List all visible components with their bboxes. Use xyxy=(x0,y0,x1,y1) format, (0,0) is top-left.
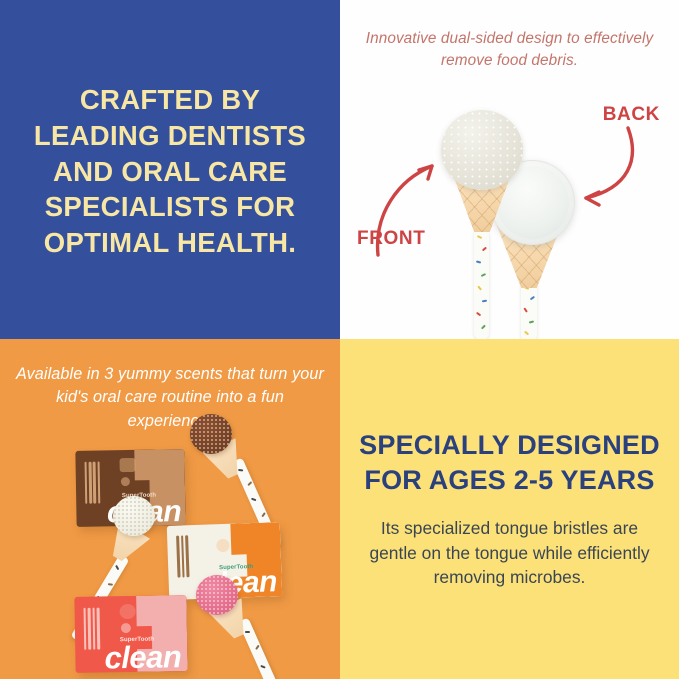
sprinkle xyxy=(261,512,266,517)
product-infographic: CRAFTED BY LEADING DENTISTS AND ORAL CAR… xyxy=(0,0,679,679)
box-stripe xyxy=(92,607,95,650)
box-stripe xyxy=(185,536,189,577)
scoop-strawberry xyxy=(196,575,238,615)
box-stripe xyxy=(89,461,92,504)
sprinkle xyxy=(477,235,483,239)
box-stripe xyxy=(176,536,180,577)
sprinkle xyxy=(260,665,265,669)
sprinkle xyxy=(477,285,482,290)
box-motif xyxy=(119,604,135,619)
panel-dual-sided-design: Innovative dual-sided design to effectiv… xyxy=(340,0,679,339)
sprinkle xyxy=(238,469,243,472)
box-product-word: clean xyxy=(104,639,181,673)
box-stripe xyxy=(88,607,91,650)
bristle-texture xyxy=(441,110,523,190)
box-stripe xyxy=(97,461,100,504)
scents-caption: Available in 3 yummy scents that turn yo… xyxy=(0,363,340,433)
sprinkle xyxy=(482,300,487,303)
box-motif xyxy=(216,539,229,552)
label-back: BACK xyxy=(603,104,660,126)
sprinkle xyxy=(251,498,256,502)
toothbrush-photo xyxy=(340,0,679,339)
box-motif xyxy=(121,623,131,633)
box-motif xyxy=(121,477,130,486)
sprinkle xyxy=(481,325,486,330)
box-stripe xyxy=(84,461,87,504)
box-stripe xyxy=(93,461,96,504)
handle-back xyxy=(521,280,537,339)
sprinkle xyxy=(529,320,534,324)
sprinkle xyxy=(481,273,487,277)
bristle-texture xyxy=(196,575,238,615)
panel-ages-2-5: SPECIALLY DESIGNED FOR AGES 2-5 YEARS It… xyxy=(340,339,679,679)
label-front: FRONT xyxy=(357,228,425,250)
ages-headline: SPECIALLY DESIGNED FOR AGES 2-5 YEARS xyxy=(340,428,679,498)
ages-body-text: Its specialized tongue bristles are gent… xyxy=(340,516,679,590)
handle-front xyxy=(474,228,489,339)
sprinkle xyxy=(530,296,535,301)
handle-strawberry xyxy=(238,618,285,679)
sprinkle xyxy=(476,312,481,317)
panel-yummy-scents: Available in 3 yummy scents that turn yo… xyxy=(0,339,340,679)
scoop-chocolate xyxy=(190,414,232,454)
sprinkle xyxy=(482,247,487,252)
sprinkle xyxy=(247,481,252,486)
panel-crafted-by-dentists: CRAFTED BY LEADING DENTISTS AND ORAL CAR… xyxy=(0,0,340,339)
sprinkle xyxy=(245,631,250,633)
box-stripe xyxy=(181,536,185,577)
box-stripe xyxy=(97,607,100,650)
scoop-vanilla xyxy=(113,496,155,536)
box-motif xyxy=(119,458,135,472)
sprinkle xyxy=(523,307,528,312)
sprinkle xyxy=(115,565,119,570)
box-stripe xyxy=(83,607,86,650)
bristle-texture xyxy=(113,496,155,536)
scoop-front-bristles xyxy=(441,110,523,190)
crafted-headline: CRAFTED BY LEADING DENTISTS AND ORAL CAR… xyxy=(0,82,340,261)
bristle-texture xyxy=(190,414,232,454)
sprinkle xyxy=(476,260,481,264)
sprinkle xyxy=(255,645,260,650)
sprinkle xyxy=(524,331,529,336)
sprinkle xyxy=(108,583,113,586)
product-box-strawberry: SuperTooth clean xyxy=(74,595,187,673)
